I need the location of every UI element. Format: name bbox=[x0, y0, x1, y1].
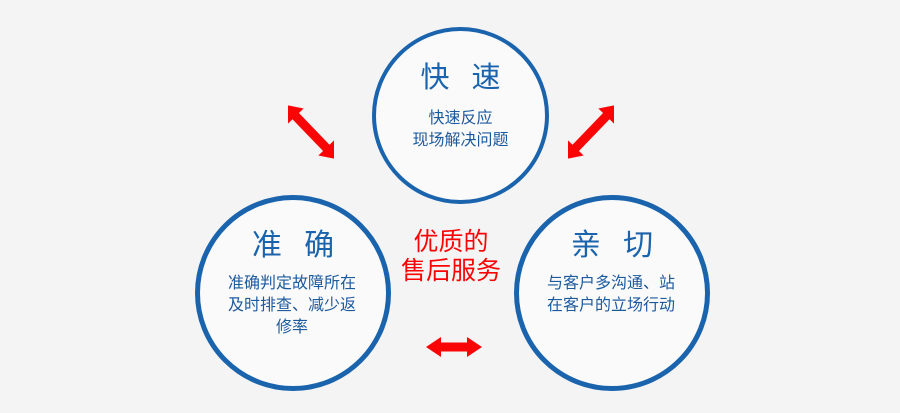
node-circle-friendly[interactable]: 亲 切 与客户多沟通、站 在客户的立场行动 bbox=[514, 195, 710, 391]
center-caption-line: 售后服务 bbox=[396, 257, 506, 286]
node-body-line: 及时排查、减少返 bbox=[197, 295, 387, 317]
node-body-line: 与客户多沟通、站 bbox=[516, 273, 706, 295]
diagram-canvas: 快 速 快速反应 现场解决问题 准 确 准确判定故障所在 及时排查、减少返 修率… bbox=[0, 0, 900, 413]
node-title-accurate: 准 确 bbox=[245, 229, 341, 263]
center-caption: 优质的 售后服务 bbox=[396, 228, 506, 286]
node-circle-fast[interactable]: 快 速 快速反应 现场解决问题 bbox=[372, 27, 549, 204]
double-arrow-diagonal-down-right-icon bbox=[568, 92, 614, 177]
center-caption-line: 优质的 bbox=[396, 228, 506, 257]
node-body-fast: 快速反应 现场解决问题 bbox=[412, 108, 508, 152]
node-body-line: 在客户的立场行动 bbox=[516, 295, 706, 317]
double-arrow-diagonal-up-right-icon bbox=[288, 92, 334, 177]
node-body-line: 现场解决问题 bbox=[412, 130, 508, 152]
node-title-friendly: 亲 切 bbox=[564, 229, 660, 263]
node-title-fast: 快 速 bbox=[413, 61, 507, 95]
node-body-friendly: 与客户多沟通、站 在客户的立场行动 bbox=[516, 273, 706, 317]
node-body-line: 修率 bbox=[197, 317, 387, 339]
double-arrow-horizontal-icon bbox=[424, 334, 484, 365]
node-body-accurate: 准确判定故障所在 及时排查、减少返 修率 bbox=[197, 273, 387, 339]
node-body-line: 准确判定故障所在 bbox=[197, 273, 387, 295]
node-body-line: 快速反应 bbox=[412, 108, 508, 130]
node-circle-accurate[interactable]: 准 确 准确判定故障所在 及时排查、减少返 修率 bbox=[195, 195, 391, 391]
